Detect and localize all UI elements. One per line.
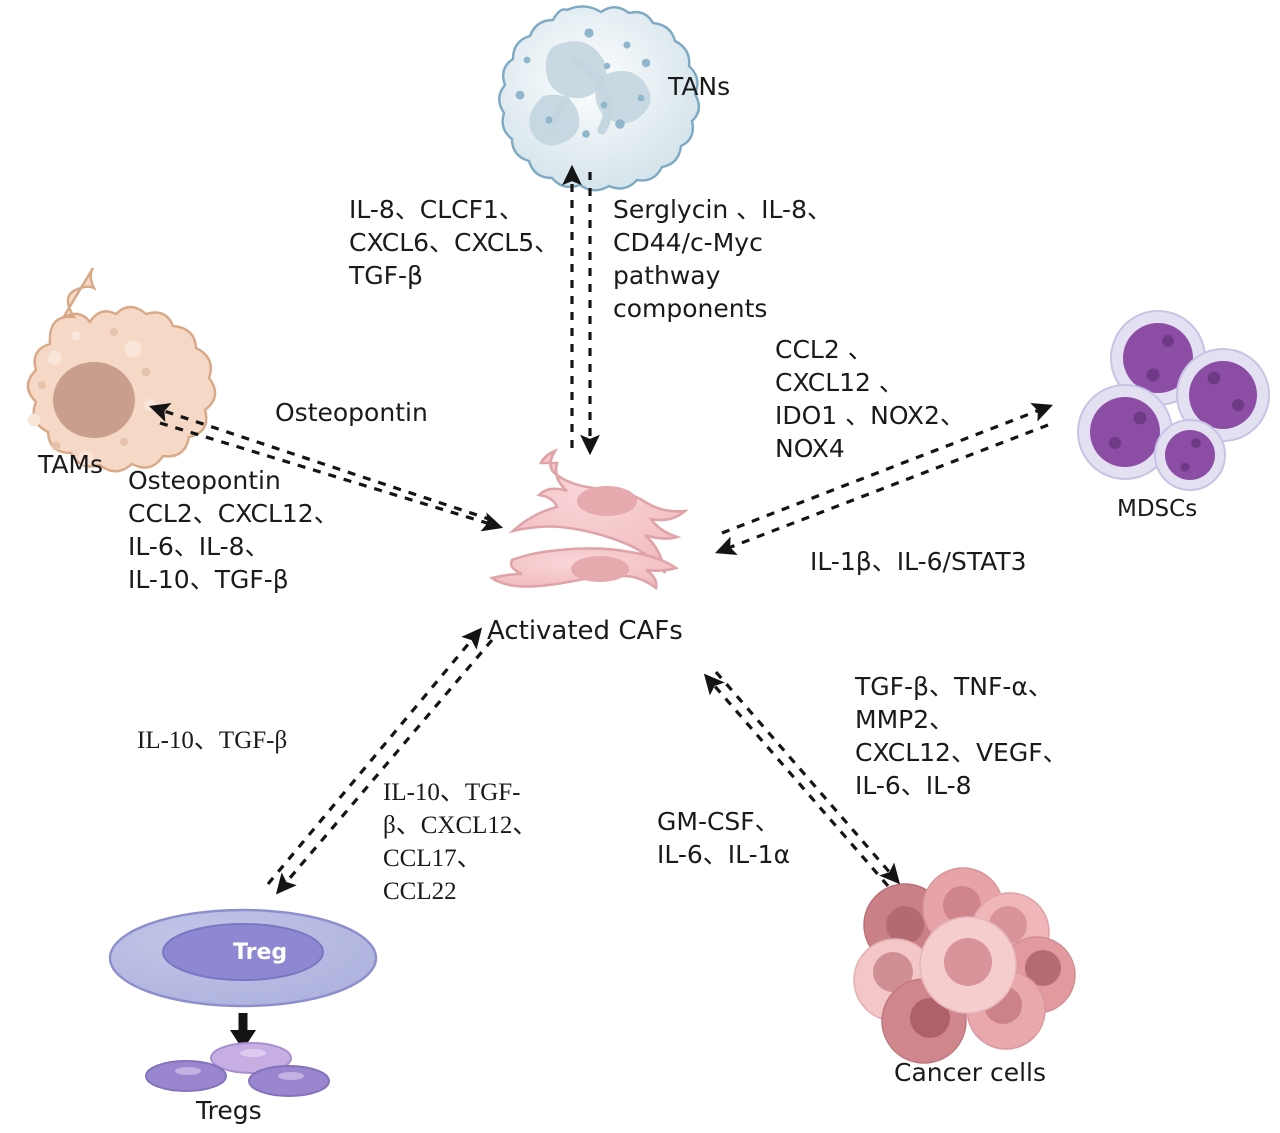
fibroblast-icon [492,451,685,588]
diagram-canvas: TANs TAMs MDSCs Activated CAFs Tregs Can… [0,0,1280,1133]
annotation-cafs-to-tams: Osteopontin [275,396,428,429]
node-label-tregs: Tregs [196,1094,262,1127]
treg-inner-label: Treg [233,938,287,967]
annotation-cafs-to-cancer: TGF-β、TNF-α、 MMP2、 CXCL12、VEGF、 IL-6、IL-… [855,670,1068,802]
node-label-mdscs: MDSCs [1117,494,1197,524]
node-label-cancer-cells: Cancer cells [894,1056,1046,1089]
annotation-tregs-to-cafs: IL-10、TGF-β [137,724,287,757]
mdsc-cluster-icon [1078,311,1269,490]
treg-progeny-icon [146,1043,329,1096]
annotation-tans-to-cafs: Serglycin 、IL-8、 CD44/c-Myc pathway comp… [613,193,832,325]
node-label-tans: TANs [668,70,730,103]
annotation-cafs-to-tans: IL-8、CLCF1、 CXCL6、CXCL5、 TGF-β [349,193,559,292]
annotation-cafs-to-mdscs: CCL2 、 CXCL12 、 IDO1 、NOX2、 NOX4 [775,333,965,465]
annotation-cafs-to-tregs: IL-10、TGF- β、CXCL12、 CCL17、 CCL22 [383,776,537,908]
annotation-cancer-to-cafs: GM-CSF、 IL-6、IL-1α [657,805,790,871]
node-label-tams: TAMs [38,448,103,481]
macrophage-icon [28,268,216,471]
annotation-tams-to-cafs: Osteopontin CCL2、CXCL12、 IL-6、IL-8、 IL-1… [128,464,339,596]
node-label-cafs: Activated CAFs [487,614,683,648]
tumor-cluster-icon [854,868,1075,1063]
annotation-mdscs-to-cafs: IL-1β、IL-6/STAT3 [810,545,1027,578]
